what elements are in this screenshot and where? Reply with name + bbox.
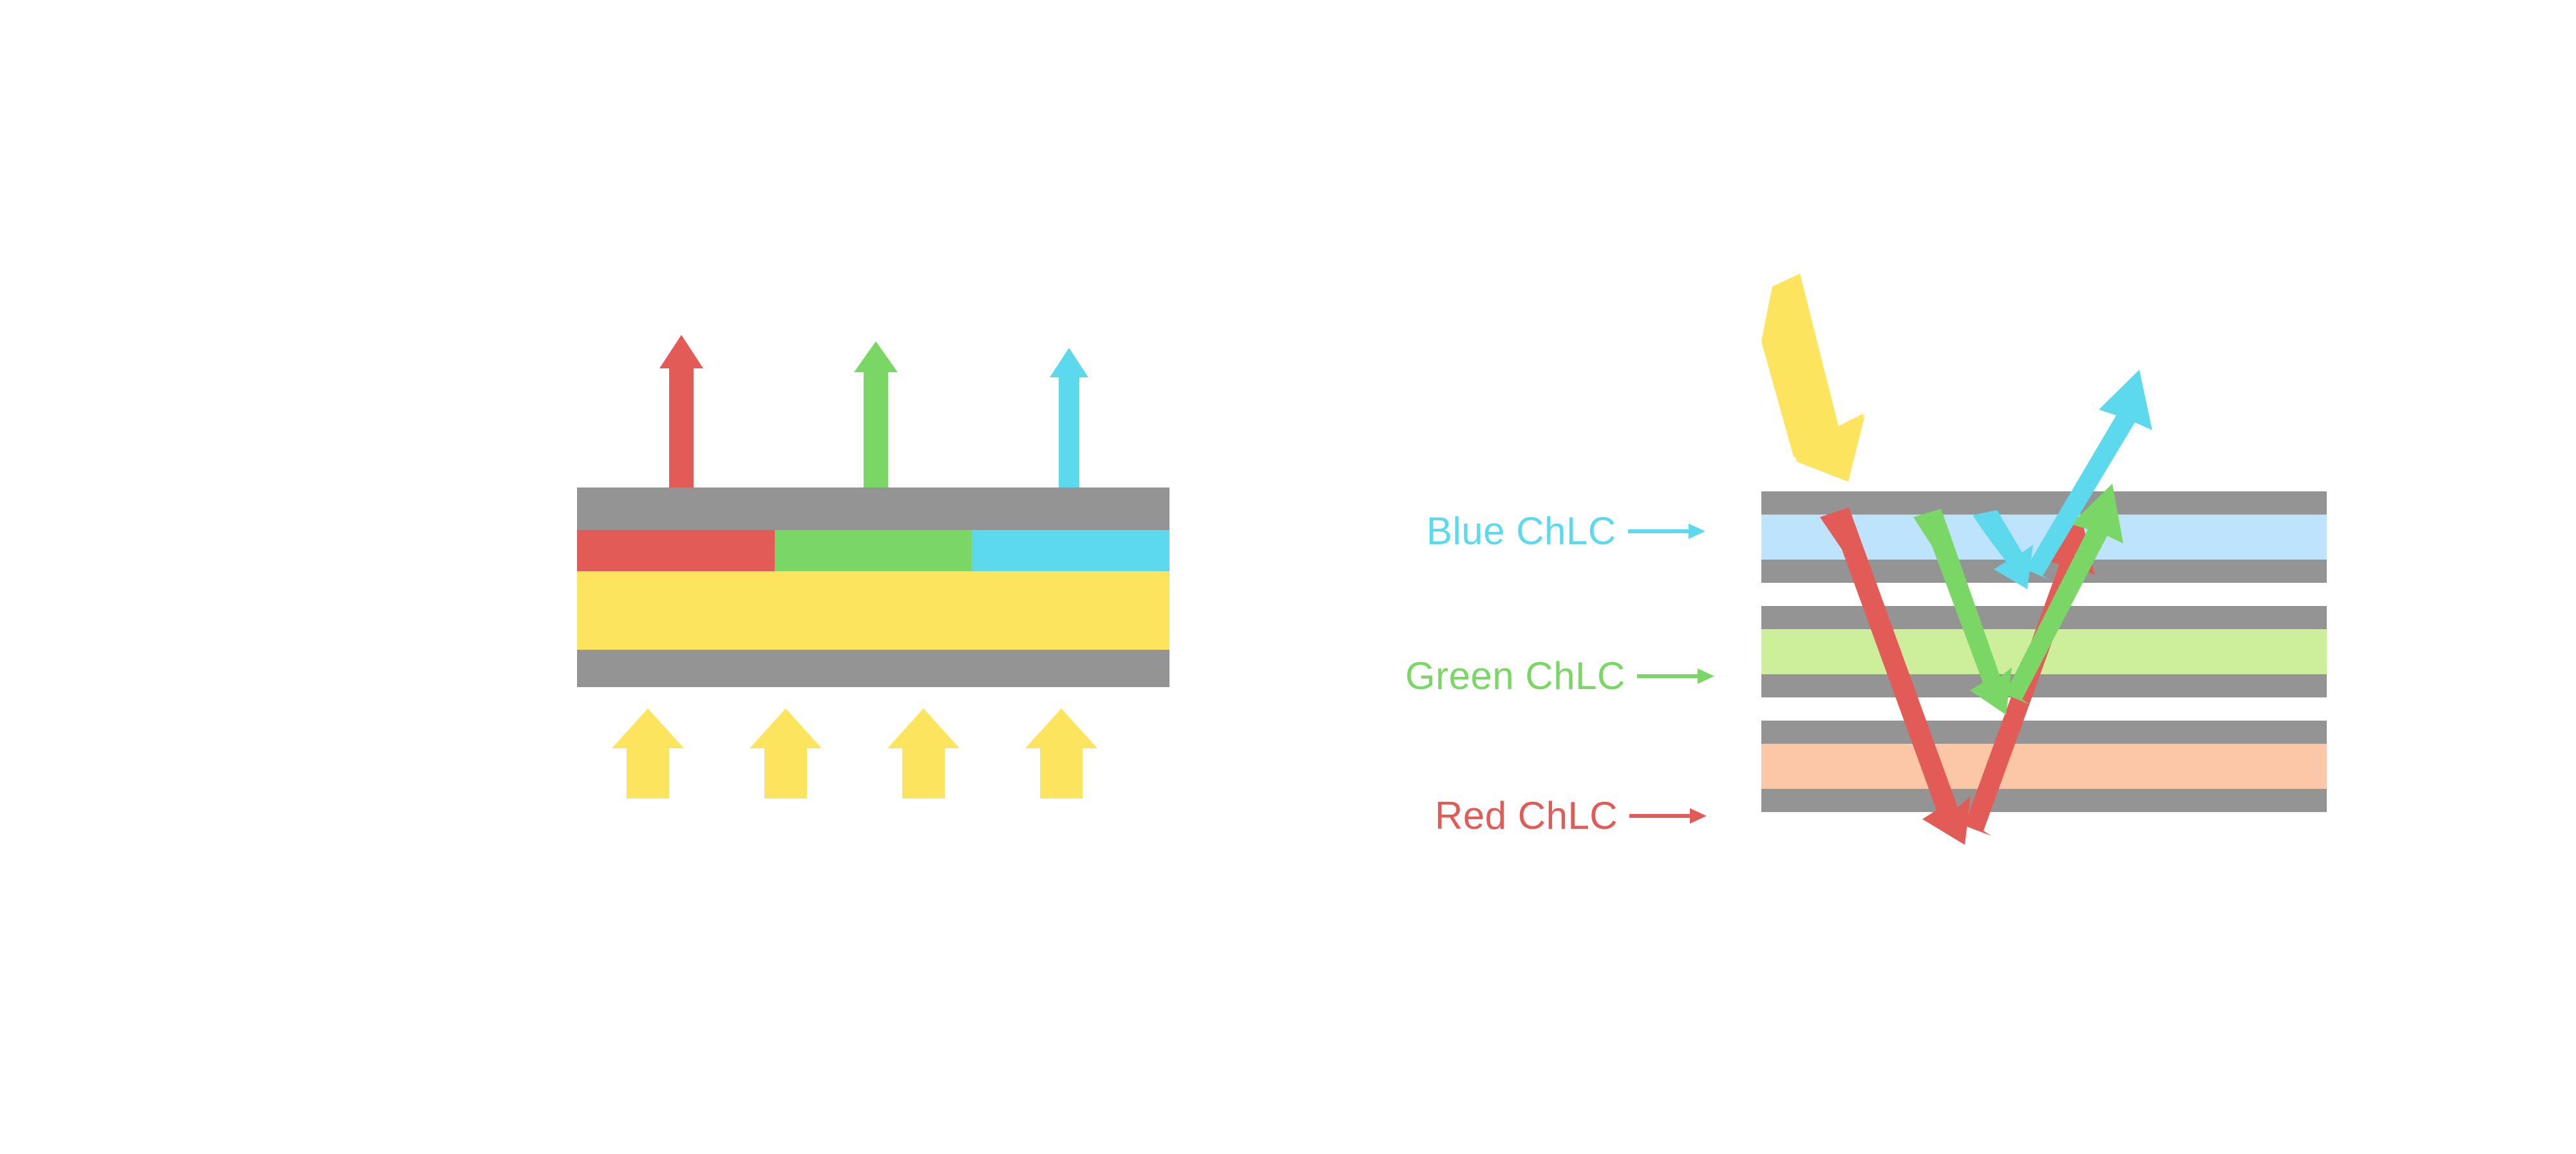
label-green-chlc-text: Green ChLC xyxy=(1405,657,1625,695)
label-blue-chlc-text: Blue ChLC xyxy=(1426,512,1616,551)
left-layer-color-filter xyxy=(577,530,1170,571)
backlight-source-arrows-group xyxy=(612,708,1159,799)
blue-chlc-cell xyxy=(1761,491,2327,583)
label-red-chlc: Red ChLC xyxy=(1435,797,1707,835)
blue-cell-top-electrode xyxy=(1761,491,2327,515)
red-cell-top-electrode xyxy=(1761,721,2327,744)
green-chlc-medium xyxy=(1761,629,2327,674)
red-chlc-medium xyxy=(1761,744,2327,789)
incident-white-light-arrow-icon xyxy=(1761,274,1865,482)
label-blue-chlc: Blue ChLC xyxy=(1426,512,1705,551)
color-filter-segment-cyan xyxy=(972,530,1170,571)
yellow-source-arrow-icon xyxy=(612,708,684,799)
label-red-chlc-text: Red ChLC xyxy=(1435,797,1618,835)
color-filter-segment-red xyxy=(577,530,775,571)
yellow-source-arrow-icon xyxy=(1025,708,1097,799)
cell-gap-1 xyxy=(1761,583,2327,606)
right-panel-chlc-stack: Blue ChLC Green ChLC Red ChLC xyxy=(1288,0,2576,1154)
yellow-source-arrow-icon xyxy=(887,708,960,799)
right-layer-stack xyxy=(1761,491,2327,812)
emitted-arrows-group xyxy=(618,335,1133,496)
green-cell-top-electrode xyxy=(1761,606,2327,629)
color-filter-segment-green xyxy=(775,530,972,571)
cyan-emitted-arrow-icon xyxy=(1050,348,1088,496)
blue-cell-bottom-electrode xyxy=(1761,560,2327,583)
yellow-source-arrow-icon xyxy=(750,708,822,799)
label-green-chlc: Green ChLC xyxy=(1405,657,1714,695)
green-emitted-arrow-icon xyxy=(854,341,898,496)
left-panel-emissive-stack xyxy=(0,0,1288,1154)
arrow-right-icon xyxy=(1629,805,1707,827)
arrow-right-icon xyxy=(1637,665,1714,687)
red-cell-bottom-electrode xyxy=(1761,789,2327,812)
left-layer-bottom-electrode xyxy=(577,650,1170,687)
green-cell-bottom-electrode xyxy=(1761,674,2327,697)
green-chlc-cell xyxy=(1761,606,2327,697)
arrow-right-icon xyxy=(1628,520,1705,542)
left-layer-top-electrode xyxy=(577,487,1170,530)
left-layer-stack xyxy=(577,487,1170,687)
cell-gap-2 xyxy=(1761,697,2327,721)
red-emitted-arrow-icon xyxy=(659,335,703,496)
figure-canvas: Blue ChLC Green ChLC Red ChLC xyxy=(0,0,2576,1154)
left-layer-backlight xyxy=(577,571,1170,650)
blue-chlc-medium xyxy=(1761,515,2327,560)
red-chlc-cell xyxy=(1761,721,2327,812)
